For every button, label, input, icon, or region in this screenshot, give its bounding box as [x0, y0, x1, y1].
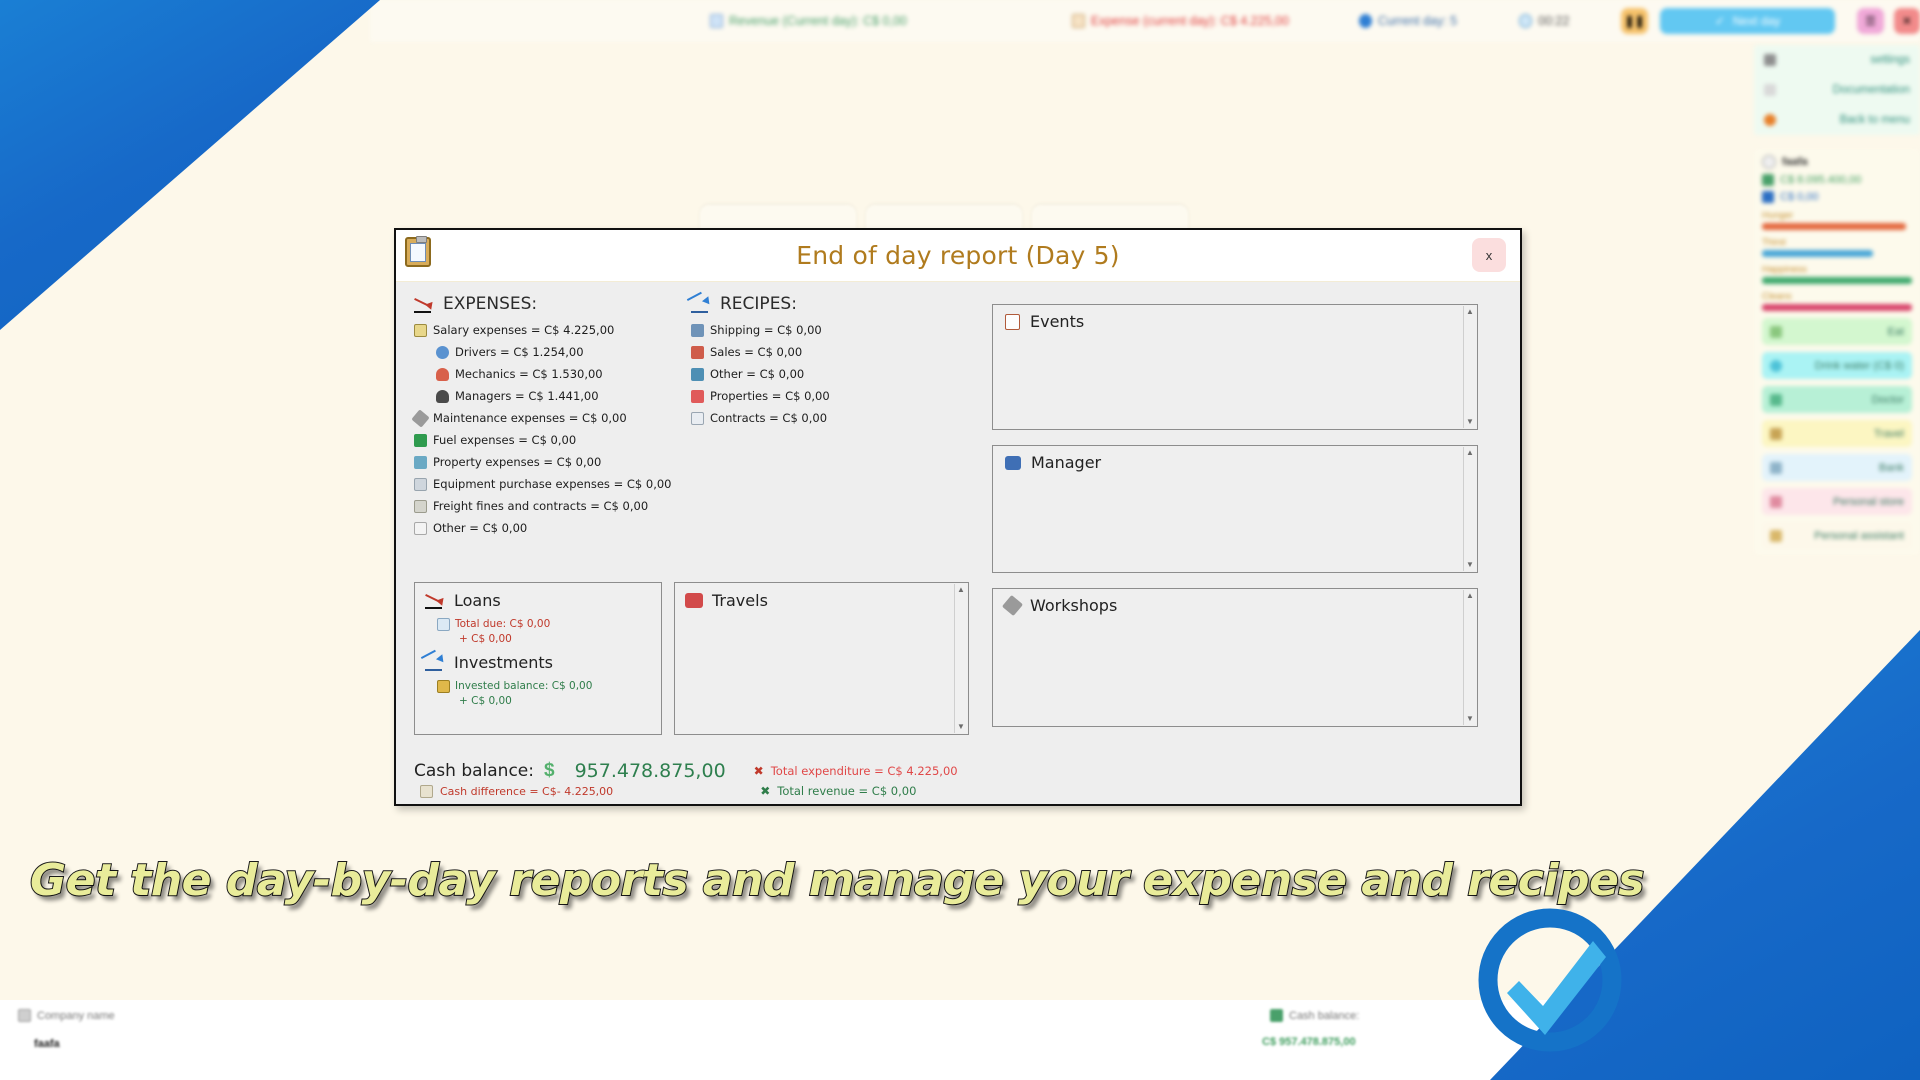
- events-scrollbar[interactable]: ▲ ▼: [1463, 306, 1476, 428]
- expense-label: Mechanics = C$ 1.530,00: [455, 364, 603, 384]
- footer-company-label: Company name: [37, 1010, 115, 1022]
- investments-title-label: Investments: [454, 653, 553, 672]
- loans-investments-box: Loans Total due: C$ 0,00 + C$ 0,00 Inves…: [414, 582, 662, 735]
- recipes-heading: RECIPES:: [691, 294, 921, 314]
- player-secondary: C$ 0,00: [1780, 191, 1819, 203]
- decorative-corner-top-left: [0, 0, 380, 330]
- travels-box: Travels ▲ ▼: [674, 582, 969, 735]
- money-bill-icon: [414, 324, 427, 337]
- action-label: Drink water (C$ 0): [1815, 360, 1904, 372]
- sidebar-item-label: Documentation: [1833, 84, 1910, 96]
- expense-row: Maintenance expenses = C$ 0,00: [414, 408, 704, 428]
- recipe-row: Other = C$ 0,00: [691, 364, 921, 384]
- pause-button[interactable]: ❚❚: [1621, 8, 1647, 34]
- trend-up-icon: [425, 654, 445, 671]
- manager-scrollbar[interactable]: ▲ ▼: [1463, 447, 1476, 571]
- trend-up-icon: [691, 296, 711, 313]
- document-green-icon: [710, 14, 723, 28]
- next-day-label: Next day: [1733, 14, 1780, 28]
- sales-icon: [691, 346, 704, 359]
- current-day-indicator: Current day: 5: [1359, 14, 1457, 28]
- dollar-icon: $: [544, 760, 555, 782]
- water-icon: [1770, 360, 1782, 372]
- options-button[interactable]: ☰: [1857, 8, 1883, 34]
- workshops-title: Workshops: [993, 589, 1477, 615]
- trend-down-icon: [414, 296, 434, 313]
- company-icon: [18, 1009, 31, 1022]
- action-label: Travel: [1874, 428, 1904, 440]
- pause-icon: ❚❚: [1625, 14, 1645, 28]
- wrench-icon: [1002, 595, 1023, 616]
- player-secondary-row: C$ 0,00: [1762, 191, 1912, 203]
- fuel-pump-icon: [414, 434, 427, 447]
- events-title: Events: [993, 305, 1477, 331]
- player-name-row: faafa: [1762, 155, 1912, 169]
- expense-label: Maintenance expenses = C$ 0,00: [433, 408, 627, 428]
- investments-balance: Invested balance: C$ 0,00: [437, 678, 651, 695]
- stat-bar: [1762, 304, 1912, 311]
- end-of-day-report-dialog: End of day report (Day 5) x EXPENSES: Sa…: [394, 228, 1522, 806]
- expenses-section: EXPENSES: Salary expenses = C$ 4.225,00 …: [414, 294, 704, 540]
- recipe-label: Shipping = C$ 0,00: [710, 320, 822, 340]
- assistant-icon: [1770, 530, 1782, 542]
- clipboard-icon: [405, 237, 431, 267]
- store-icon: [1770, 496, 1782, 508]
- stat-thirst: Thirst: [1762, 237, 1912, 257]
- recipes-section: RECIPES: Shipping = C$ 0,00 Sales = C$ 0…: [691, 294, 921, 430]
- investments-plus: + C$ 0,00: [459, 695, 651, 707]
- total-revenue-label: Total revenue = C$ 0,00: [777, 784, 916, 798]
- marketing-headline: Get the day-by-day reports and manage yo…: [30, 855, 1644, 906]
- manager-panel: Manager ▲ ▼: [992, 445, 1478, 573]
- sidebar-item-label: Back to menu: [1840, 114, 1910, 126]
- expense-row: Equipment purchase expenses = C$ 0,00: [414, 474, 704, 494]
- total-expenditure-row: ✖ Total expenditure = C$ 4.225,00: [754, 764, 958, 778]
- truck-icon: [691, 324, 704, 337]
- trend-down-icon: [425, 592, 445, 609]
- events-panel: Events ▲ ▼: [992, 304, 1478, 430]
- stat-label: Hunger: [1762, 210, 1912, 221]
- expense-row: Fuel expenses = C$ 0,00: [414, 430, 704, 450]
- investments-balance-label: Invested balance: C$ 0,00: [455, 678, 592, 695]
- recipe-row: Shipping = C$ 0,00: [691, 320, 921, 340]
- expense-text: Expense (current day): C$ 4.225,00: [1091, 14, 1289, 28]
- timer-indicator: 00:22: [1519, 14, 1569, 28]
- orange-dot-icon: [1764, 114, 1776, 126]
- sidebar-item-back-to-menu[interactable]: Back to menu: [1754, 105, 1920, 135]
- travels-scrollbar[interactable]: ▲ ▼: [954, 584, 967, 733]
- recipe-label: Properties = C$ 0,00: [710, 386, 830, 406]
- summary-row-secondary: Cash difference = C$- 4.225,00 ✖ Total r…: [414, 784, 1500, 798]
- sidebar-item-documentation[interactable]: Documentation: [1754, 75, 1920, 105]
- next-day-button[interactable]: ✓ Next day: [1660, 8, 1836, 34]
- expenses-heading: EXPENSES:: [414, 294, 704, 314]
- exit-button[interactable]: ✕: [1894, 8, 1920, 34]
- travels-title-label: Travels: [712, 591, 768, 610]
- loan-doc-icon: [437, 618, 450, 631]
- recipe-label: Sales = C$ 0,00: [710, 342, 802, 362]
- player-cash-row: C$ 8.095.400,00: [1762, 174, 1912, 186]
- expenses-heading-label: EXPENSES:: [443, 294, 537, 314]
- mechanic-icon: [436, 368, 449, 381]
- investments-title: Investments: [425, 653, 651, 672]
- stat-bar: [1762, 277, 1912, 284]
- stat-happiness: Happiness: [1762, 264, 1912, 284]
- loans-title-label: Loans: [454, 591, 501, 610]
- expense-label: Freight fines and contracts = C$ 0,00: [433, 496, 648, 516]
- dialog-titlebar: End of day report (Day 5) x: [396, 230, 1520, 282]
- close-button[interactable]: x: [1472, 238, 1506, 272]
- wrench-icon: [411, 409, 429, 427]
- total-revenue-row: ✖ Total revenue = C$ 0,00: [760, 784, 916, 798]
- page-footer: Company name faafa Cash balance: C$ 957.…: [0, 1000, 1920, 1080]
- expense-label: Salary expenses = C$ 4.225,00: [433, 320, 614, 340]
- money-green-icon: [1762, 174, 1774, 186]
- workshops-scrollbar[interactable]: ▲ ▼: [1463, 590, 1476, 725]
- loans-plus: + C$ 0,00: [459, 633, 651, 645]
- summary-row-primary: Cash balance: $ 957.478.875,00 ✖ Total e…: [414, 760, 1500, 782]
- expense-label: Drivers = C$ 1.254,00: [455, 342, 584, 362]
- expense-label: Fuel expenses = C$ 0,00: [433, 430, 576, 450]
- action-eat[interactable]: Eat: [1762, 318, 1912, 345]
- top-toolbar: Revenue (Current day): C$ 0,00 Expense (…: [370, 0, 1920, 42]
- cash-difference-row: Cash difference = C$- 4.225,00: [420, 785, 613, 798]
- bank-icon: [1770, 462, 1782, 474]
- loans-total-due: Total due: C$ 0,00: [437, 616, 651, 633]
- freight-icon: [414, 500, 427, 513]
- x-green-icon: ✖: [760, 784, 770, 798]
- manager-title-label: Manager: [1031, 453, 1101, 472]
- sidebar-menu: settings Documentation Back to menu: [1754, 45, 1920, 135]
- expense-indicator: Expense (current day): C$ 4.225,00: [1072, 14, 1289, 28]
- right-sidebar: settings Documentation Back to menu faaf…: [1754, 45, 1920, 555]
- cash-balance-value: 957.478.875,00: [575, 760, 726, 782]
- footer-cash-label: Cash balance:: [1289, 1010, 1359, 1022]
- expense-label: Property expenses = C$ 0,00: [433, 452, 601, 472]
- chevron-up-icon[interactable]: ▲: [1466, 308, 1474, 316]
- expense-label: Other = C$ 0,00: [433, 518, 527, 538]
- travels-title: Travels: [685, 591, 958, 610]
- footer-cash-value: C$ 957.478.875,00: [1262, 1036, 1356, 1048]
- chevron-down-icon[interactable]: ▼: [957, 723, 965, 731]
- footer-company-value: faafa: [34, 1038, 60, 1050]
- events-title-label: Events: [1030, 312, 1084, 331]
- action-bank[interactable]: Bank: [1762, 454, 1912, 481]
- action-personal-store[interactable]: Personal store: [1762, 488, 1912, 515]
- action-label: Doctor: [1872, 394, 1904, 406]
- recipe-label: Contracts = C$ 0,00: [710, 408, 827, 428]
- action-label: Personal assistant: [1814, 530, 1904, 542]
- stat-bar: [1762, 223, 1906, 230]
- recipe-row: Sales = C$ 0,00: [691, 342, 921, 362]
- player-name: faafa: [1782, 156, 1808, 168]
- sidebar-item-settings[interactable]: settings: [1754, 45, 1920, 75]
- loans-title: Loans: [425, 591, 651, 610]
- workshops-title-label: Workshops: [1030, 596, 1117, 615]
- money-green-icon: [1270, 1009, 1283, 1022]
- exit-icon: ✕: [1902, 14, 1912, 28]
- chevron-up-icon[interactable]: ▲: [1466, 449, 1474, 457]
- suitcase-icon: [1770, 428, 1782, 440]
- chevron-down-icon[interactable]: ▼: [1466, 418, 1474, 426]
- expense-row: Property expenses = C$ 0,00: [414, 452, 704, 472]
- chevron-down-icon[interactable]: ▼: [1466, 715, 1474, 723]
- bus-icon: [685, 593, 703, 608]
- expense-row: Mechanics = C$ 1.530,00: [436, 364, 704, 384]
- stat-hunger: Hunger: [1762, 210, 1912, 230]
- recipe-row: Contracts = C$ 0,00: [691, 408, 921, 428]
- events-icon: [1005, 314, 1020, 330]
- drivers-icon: [436, 346, 449, 359]
- food-icon: [1770, 326, 1782, 338]
- expense-row: Drivers = C$ 1.254,00: [436, 342, 704, 362]
- clock-icon: [1519, 14, 1532, 28]
- stat-label: Cleans: [1762, 291, 1912, 302]
- properties-icon: [691, 390, 704, 403]
- cash-diff-icon: [420, 785, 433, 798]
- expense-row: Freight fines and contracts = C$ 0,00: [414, 496, 704, 516]
- other-doc-icon: [414, 522, 427, 535]
- property-icon: [414, 456, 427, 469]
- action-label: Eat: [1887, 326, 1904, 338]
- info-icon: [1764, 84, 1776, 96]
- doctor-icon: [1770, 394, 1782, 406]
- screenshot-root: Revenue (Current day): C$ 0,00 Expense (…: [0, 0, 1920, 1080]
- stat-label: Happiness: [1762, 264, 1912, 275]
- action-travel[interactable]: Travel: [1762, 420, 1912, 447]
- stat-label: Thirst: [1762, 237, 1912, 248]
- dialog-body: EXPENSES: Salary expenses = C$ 4.225,00 …: [396, 282, 1520, 804]
- money-blue-icon: [1762, 191, 1774, 203]
- contracts-icon: [691, 412, 704, 425]
- check-icon: ✓: [1715, 14, 1725, 28]
- player-cash: C$ 8.095.400,00: [1780, 174, 1861, 186]
- action-label: Bank: [1879, 462, 1904, 474]
- action-personal-assistant[interactable]: Personal assistant: [1762, 522, 1912, 549]
- cash-difference-label: Cash difference = C$- 4.225,00: [440, 785, 613, 798]
- manager-icon: [436, 390, 449, 403]
- sidebar-item-label: settings: [1870, 54, 1910, 66]
- manager-title: Manager: [993, 446, 1477, 472]
- expense-row: Other = C$ 0,00: [414, 518, 704, 538]
- expense-row: Managers = C$ 1.441,00: [436, 386, 704, 406]
- tools-icon: [1764, 54, 1776, 66]
- workshops-panel: Workshops ▲ ▼: [992, 588, 1478, 727]
- invest-icon: [437, 680, 450, 693]
- recipes-heading-label: RECIPES:: [720, 294, 797, 314]
- timer-text: 00:22: [1538, 14, 1569, 28]
- footer-company-label-row: Company name: [18, 1009, 115, 1022]
- stat-bar: [1762, 250, 1873, 257]
- avatar-icon: [1762, 155, 1776, 169]
- recipe-row: Properties = C$ 0,00: [691, 386, 921, 406]
- summary-section: Cash balance: $ 957.478.875,00 ✖ Total e…: [414, 760, 1500, 798]
- revenue-text: Revenue (Current day): C$ 0,00: [729, 14, 907, 28]
- chevron-down-icon[interactable]: ▼: [1466, 561, 1474, 569]
- expense-row: Salary expenses = C$ 4.225,00: [414, 320, 704, 340]
- stat-cleans: Cleans: [1762, 291, 1912, 311]
- chevron-up-icon[interactable]: ▲: [1466, 592, 1474, 600]
- check-badge-icon: [1475, 905, 1625, 1055]
- action-doctor[interactable]: Doctor: [1762, 386, 1912, 413]
- chevron-up-icon[interactable]: ▲: [957, 586, 965, 594]
- manager-panel-icon: [1005, 456, 1021, 470]
- action-label: Personal store: [1833, 496, 1904, 508]
- cash-balance-label: Cash balance:: [414, 761, 534, 781]
- total-expenditure-label: Total expenditure = C$ 4.225,00: [771, 764, 958, 778]
- recipe-label: Other = C$ 0,00: [710, 364, 804, 384]
- other-green-icon: [691, 368, 704, 381]
- player-card: faafa C$ 8.095.400,00 C$ 0,00 Hunger Thi…: [1754, 149, 1920, 555]
- equipment-icon: [414, 478, 427, 491]
- footer-cash-label-row: Cash balance:: [1270, 1009, 1359, 1022]
- revenue-indicator: Revenue (Current day): C$ 0,00: [710, 14, 907, 28]
- current-day-text: Current day: 5: [1378, 14, 1457, 28]
- info-blue-icon: [1359, 14, 1372, 28]
- expense-label: Managers = C$ 1.441,00: [455, 386, 599, 406]
- expense-label: Equipment purchase expenses = C$ 0,00: [433, 474, 671, 494]
- action-drink-water[interactable]: Drink water (C$ 0): [1762, 352, 1912, 379]
- options-icon: ☰: [1865, 14, 1876, 28]
- x-red-icon: ✖: [754, 764, 764, 778]
- document-red-icon: [1072, 14, 1085, 28]
- dialog-title: End of day report (Day 5): [796, 241, 1119, 270]
- loans-total-due-label: Total due: C$ 0,00: [455, 616, 550, 633]
